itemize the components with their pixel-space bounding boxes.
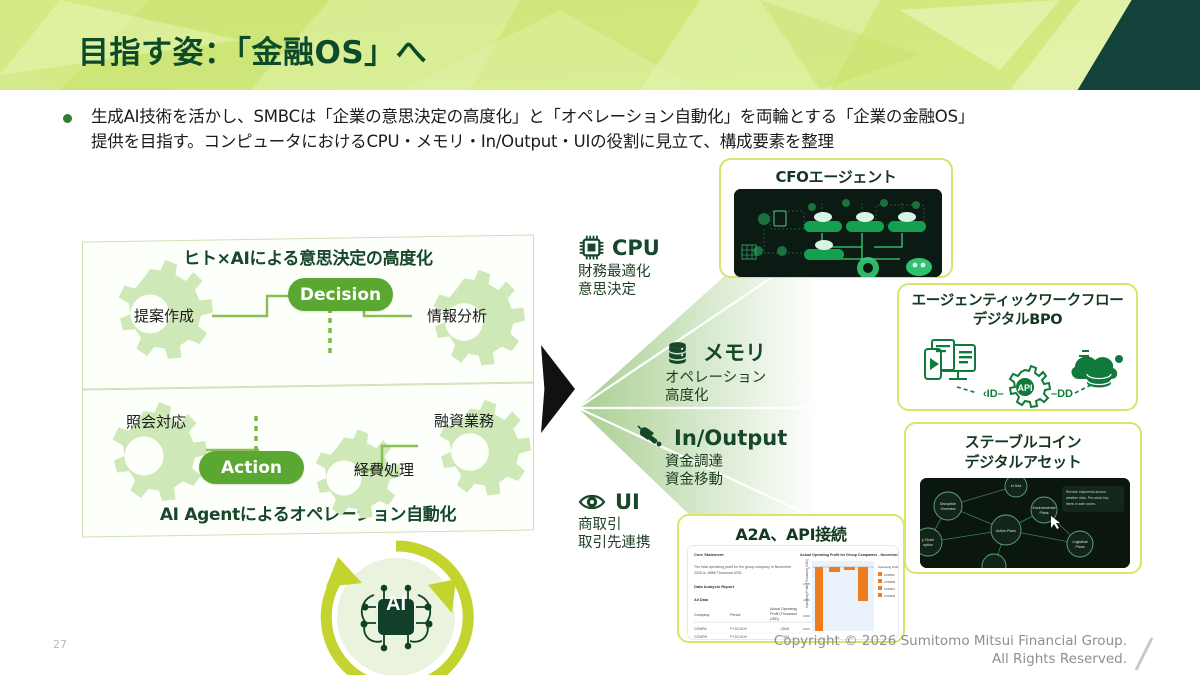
api-label: API [1017, 383, 1032, 393]
panel-title-workflow-line2: デジタルBPO [899, 311, 1136, 330]
svg-text:-6000: -6000 [802, 614, 810, 618]
category-name-ui: UI [615, 490, 640, 514]
thumbnail-agent-graph [734, 189, 942, 277]
node-label-proposal: 提案作成 [134, 305, 194, 326]
decision-pill[interactable]: Decision [288, 278, 393, 311]
node-label-expense: 経費処理 [354, 459, 414, 480]
node-label-analysis: 情報分析 [427, 305, 487, 326]
svg-text:The total operating profit for: The total operating profit for the group… [694, 565, 792, 569]
copyright-line-2: All Rights Reserved. [774, 650, 1127, 668]
copyright-notice: Copyright © 2026 Sumitomo Mitsui Financi… [774, 632, 1127, 668]
svg-text:COMPB: COMPB [694, 635, 708, 639]
svg-text:weather risks. Pre-stock key: weather risks. Pre-stock key [1066, 496, 1109, 500]
svg-text:2025 is -8866 Thousand USD.: 2025 is -8866 Thousand USD. [694, 571, 742, 575]
category-sub-memory-2: 高度化 [665, 387, 766, 406]
panel-title-a2a-api: A2A、API接続 [679, 521, 903, 545]
panel-a2a-api[interactable]: A2A、API接続 Core Statement The total opera… [677, 514, 905, 643]
bullet-line-2: 提供を目指す。コンピュータにおけるCPU・メモリ・In/Output・UIの役割… [91, 129, 1153, 154]
category-memory: メモリ オペレーション 高度化 [665, 337, 766, 406]
svg-text:Plans: Plans [1076, 545, 1085, 549]
svg-text:-2000: -2000 [802, 582, 810, 586]
category-sub-memory-1: オペレーション [665, 369, 766, 388]
category-cpu: CPU 財務最適化 意思決定 [578, 234, 660, 300]
category-name-cpu: CPU [612, 236, 660, 260]
page-title: 目指す姿：「金融OS」へ [78, 27, 427, 72]
svg-text:Overview: Overview [941, 507, 956, 511]
workflow-illustration: ‹ID– API –DD [899, 335, 1140, 413]
svg-text:-8000: -8000 [802, 627, 810, 631]
category-sub-cpu-2: 意思決定 [578, 281, 660, 300]
svg-text:uption: uption [923, 543, 933, 547]
action-pill[interactable]: Action [199, 451, 304, 484]
svg-text:COMPB: COMPB [884, 580, 895, 584]
page-number: 27 [53, 638, 67, 651]
svg-text:USD): USD) [770, 617, 779, 621]
copyright-line-1: Copyright © 2026 Sumitomo Mitsui Financi… [774, 632, 1127, 650]
panel-title-cfo-agent: CFOエージェント [721, 166, 951, 187]
footer-slash-mark [1130, 636, 1156, 672]
svg-text:et Sea: et Sea [1011, 484, 1021, 488]
ai-chip-label: AI [386, 593, 406, 615]
chart-title: Actual Operating Profit for Group Compan… [800, 553, 899, 557]
category-sub-inoutput-1: 資金調達 [665, 453, 787, 472]
svg-text:y Chain: y Chain [922, 538, 934, 542]
panel-title-stablecoin-line2: デジタルアセット [906, 452, 1140, 472]
svg-text:Operating Profit: Operating Profit [878, 565, 899, 569]
svg-text:Logistical: Logistical [1073, 540, 1088, 544]
bullet-dot-icon [63, 114, 72, 123]
panel-cfo-agent[interactable]: CFOエージェント [719, 158, 953, 278]
report-heading: Core Statement [694, 552, 724, 557]
svg-text:Action Plans: Action Plans [996, 529, 1016, 533]
diagram-title-top: ヒト×AIによる意思決定の高度化 [82, 244, 534, 269]
svg-text:Environmental: Environmental [1033, 506, 1056, 510]
category-sub-ui-2: 取引先連携 [578, 534, 651, 553]
thumbnail-report-chart: Core Statement The total operating profi… [687, 545, 899, 640]
category-sub-cpu-1: 財務最適化 [578, 263, 660, 282]
svg-text:COMPA: COMPA [694, 627, 707, 631]
category-name-inoutput: In/Output [674, 426, 787, 450]
category-sub-inoutput-2: 資金移動 [665, 471, 787, 490]
category-inoutput: In/Output 資金調達 資金移動 [637, 425, 787, 490]
bullet-line-1: 生成AI技術を活かし、SMBCは「企業の意思決定の高度化」と「オペレーション自動… [91, 104, 1153, 129]
panel-title-workflow-line1: エージェンティックワークフロー [899, 292, 1136, 311]
svg-text:Period: Period [730, 613, 740, 617]
svg-text:Disruption: Disruption [940, 502, 956, 506]
slide-root: 目指す姿：「金融OS」へ 生成AI技術を活かし、SMBCは「企業の意思決定の高度… [0, 0, 1200, 675]
ring-arrow-right [428, 579, 456, 613]
workflow-left-tag: ‹ID– [983, 388, 1004, 400]
decision-automation-diagram: ヒト×AIによる意思決定の高度化 AI Agentによるオペレーション自動化 [82, 238, 534, 534]
category-name-memory: メモリ [703, 337, 766, 367]
summary-bullet: 生成AI技術を活かし、SMBCは「企業の意思決定の高度化」と「オペレーション自動… [63, 104, 1153, 154]
svg-text:Company: Company [694, 613, 710, 617]
thumbnail-network-graph: DisruptionOverview et Sea y Chainuption … [920, 478, 1130, 568]
svg-text:items in safe zones.: items in safe zones. [1066, 502, 1096, 506]
api-gear-icon: API [1010, 366, 1050, 407]
panel-agentic-workflow[interactable]: エージェンティックワークフロー デジタルBPO ‹ID– [897, 283, 1138, 411]
cpu-chip-icon [578, 234, 605, 261]
svg-text:Actual Operating: Actual Operating [770, 607, 797, 611]
node-label-inquiry: 照会対応 [126, 411, 186, 432]
panel-stablecoin[interactable]: ステーブルコイン デジタルアセット Disrupt [904, 422, 1142, 574]
eye-icon [578, 491, 608, 513]
svg-text:COMPC: COMPC [884, 587, 896, 591]
node-label-lending: 融資業務 [434, 410, 494, 431]
svg-text:-2848: -2848 [780, 627, 789, 631]
svg-text:COMPD: COMPD [884, 594, 896, 598]
svg-text:COMPA: COMPA [884, 573, 895, 577]
svg-text:-4000: -4000 [802, 598, 810, 602]
report-section-2: All Data [694, 598, 709, 602]
diagram-title-bottom: AI Agentによるオペレーション自動化 [82, 500, 534, 525]
category-ui: UI 商取引 取引先連携 [578, 490, 651, 553]
cloud-database-icon [1072, 351, 1123, 388]
svg-text:FY23-NOV: FY23-NOV [730, 635, 748, 639]
svg-text:FY23-NOV: FY23-NOV [730, 627, 748, 631]
svg-text:Plans: Plans [1040, 511, 1049, 515]
panel-title-stablecoin-line1: ステーブルコイン [906, 432, 1140, 452]
plug-icon [637, 425, 667, 451]
workflow-right-tag: –DD [1051, 388, 1073, 400]
report-section-1: Data Analysis Report [694, 584, 735, 589]
database-icon [665, 340, 690, 365]
ring-arrow-left [326, 557, 362, 587]
category-sub-ui-1: 商取引 [578, 516, 651, 535]
svg-text:Reroute shipments around: Reroute shipments around [1066, 490, 1106, 494]
svg-text:Profit (Thousand: Profit (Thousand [770, 612, 797, 616]
header-banner: 目指す姿：「金融OS」へ [0, 0, 1200, 90]
ai-cycle-ring: AI [306, 527, 486, 675]
